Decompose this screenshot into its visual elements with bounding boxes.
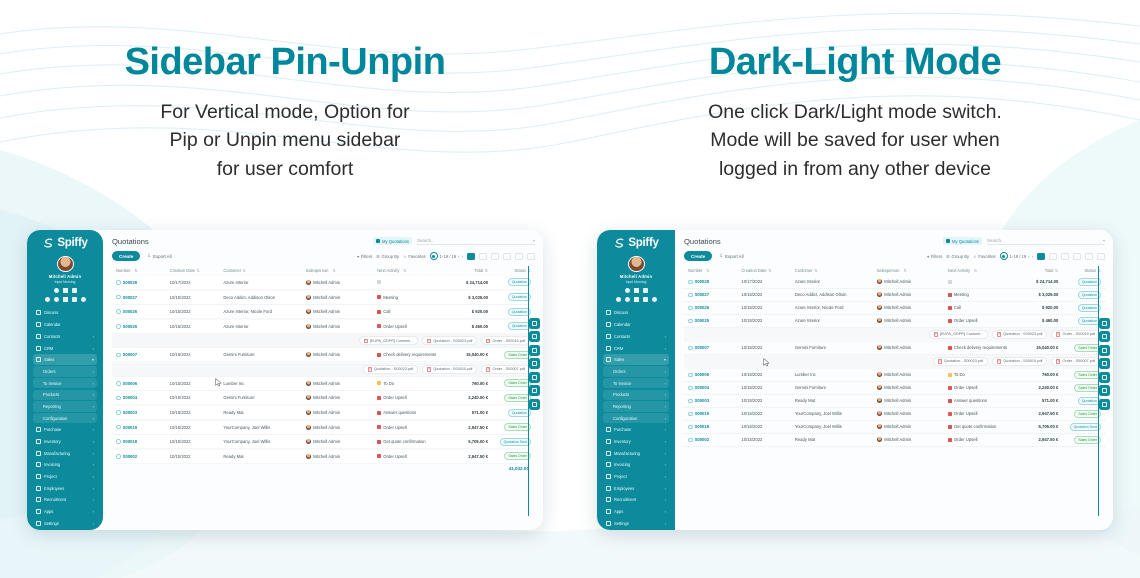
actionbar[interactable]: Create ⇩ Export All ▾ Filters — [684, 251, 1105, 262]
activity-icon — [377, 324, 381, 328]
cell-next-activity: Order Upsell — [377, 454, 438, 459]
filters-button[interactable]: ▾ Filters — [927, 254, 942, 259]
sidebar-item-apps[interactable]: Apps› — [603, 506, 669, 517]
sidebar-item-crm[interactable]: CRM› — [33, 343, 97, 354]
chevron-right-icon[interactable]: › — [665, 451, 666, 456]
chevron-right-icon[interactable]: › — [93, 334, 94, 339]
print-icon[interactable] — [529, 358, 540, 369]
bulb-icon[interactable] — [652, 297, 657, 302]
cell-customer: Azure Interior — [795, 318, 877, 323]
cell-next-activity: Answer questions — [377, 410, 438, 415]
cell-customer: YourCompany, Joel Willis — [795, 424, 877, 429]
chevron-right-icon[interactable]: › — [665, 404, 666, 409]
cell-total-text: 15,040.00 € — [466, 352, 488, 357]
status-ring-icon[interactable] — [688, 293, 693, 298]
attachment-chip[interactable]: POrder - S00015.pdf — [481, 336, 530, 345]
sidebar-item-recruitment[interactable]: Recruitment› — [603, 495, 669, 506]
sidebar-item-products[interactable]: Products› — [603, 390, 669, 401]
kanban-view-button[interactable] — [479, 253, 487, 260]
sidebar-item-discuss[interactable]: Discuss — [33, 308, 97, 319]
brand-logo[interactable]: Spiffy — [613, 237, 658, 250]
chevron-right-icon[interactable]: › — [665, 369, 666, 374]
topbar: Quotations My Quotations Search... ▾ — [112, 237, 535, 246]
sidebar-item-project[interactable]: Project› — [33, 471, 97, 482]
attachment-chip[interactable]: PQuotation - S00023.pdf — [422, 336, 477, 345]
chevron-right-icon[interactable]: › — [93, 416, 94, 421]
print-icon-glyph — [1102, 361, 1107, 366]
sidebar-item-sales[interactable]: Sales▾ — [33, 354, 97, 365]
archive-icon[interactable] — [529, 385, 540, 396]
sidebar-item-orders[interactable]: Orders› — [33, 366, 97, 377]
column-header-customer[interactable]: Customer⇅ — [223, 268, 305, 273]
chevron-right-icon[interactable]: › — [93, 439, 94, 444]
status-ring-icon[interactable] — [688, 412, 693, 417]
link-alt-icon[interactable] — [625, 297, 630, 302]
chevron-right-icon[interactable]: › — [93, 509, 94, 514]
bulb-icon[interactable] — [81, 297, 86, 302]
pin-icon[interactable] — [63, 297, 68, 302]
cell-status: Quotation — [1058, 397, 1101, 405]
layout-icon[interactable] — [1099, 372, 1110, 383]
sidebar-item-purchase[interactable]: Purchase› — [33, 425, 97, 436]
search-input[interactable]: Search... ▾ — [417, 238, 535, 245]
chevron-right-icon[interactable]: › — [665, 439, 666, 444]
link-icon[interactable] — [45, 297, 50, 302]
sidebar-item-to-invoice[interactable]: To Invoice› — [33, 378, 97, 389]
table-row[interactable]: S0000710/15/2022Gemini FurnitureMitchell… — [684, 342, 1105, 355]
search-area[interactable]: My Quotations Search... ▾ — [943, 237, 1105, 245]
column-header-label: Salesperson — [306, 268, 329, 273]
table-row[interactable]: S0000310/15/2022Ready MatMitchell AdminA… — [684, 395, 1105, 408]
chevron-right-icon[interactable]: › — [665, 486, 666, 491]
lock-icon[interactable] — [643, 297, 648, 302]
chevron-right-icon[interactable]: › — [93, 486, 94, 491]
sidebar-item-manufacturing[interactable]: Manufacturing› — [33, 448, 97, 459]
sidebar-item-apps[interactable]: Apps› — [33, 506, 97, 517]
cell-number-text: S00003 — [123, 410, 137, 415]
cell-salesperson-text: Mitchell Admin — [313, 352, 340, 357]
chevron-down-icon[interactable]: ▾ — [533, 238, 535, 243]
settings-gear-icon[interactable] — [1099, 318, 1110, 329]
table-row[interactable]: S0002510/15/2022Azure InteriorMitchell A… — [684, 315, 1105, 328]
status-ring-icon[interactable] — [116, 295, 121, 300]
pager[interactable]: 1-19 / 19 ‹ › — [1000, 252, 1033, 260]
home-icon[interactable] — [63, 288, 68, 293]
cell-number: S00002 — [116, 454, 170, 459]
cell-creation-date-text: 10/15/2022 — [741, 372, 762, 377]
list-view-button[interactable] — [467, 253, 475, 260]
attachment-chip[interactable]: PQuotation - S00023.pdf — [933, 357, 988, 366]
chevron-right-icon[interactable]: › — [93, 451, 94, 456]
chevron-right-icon[interactable]: › — [93, 521, 94, 526]
sidebar-item-recruitment[interactable]: Recruitment› — [33, 495, 97, 506]
status-ring-icon[interactable] — [116, 324, 121, 329]
column-header-total[interactable]: Total⇅ — [1008, 268, 1058, 273]
contacts-icon — [606, 334, 611, 339]
cell-status: Sales Order — [1058, 436, 1101, 444]
home-icon[interactable] — [634, 288, 639, 293]
cell-salesperson-text: Mitchell Admin — [884, 398, 911, 403]
prev-page-icon[interactable]: ‹ — [1028, 254, 1029, 259]
sidebar-item-invoicing[interactable]: Invoicing› — [33, 460, 97, 471]
graph-view-button[interactable] — [1085, 253, 1093, 260]
cell-salesperson-text: Mitchell Admin — [313, 425, 340, 430]
sort-icon[interactable]: ⇅ — [332, 268, 335, 273]
sidebar-item-inventory[interactable]: Inventory› — [33, 436, 97, 447]
attachment-chip[interactable]: PQuotation - S00023.pdf — [992, 330, 1047, 339]
sidebar-item-employees[interactable]: Employees› — [33, 483, 97, 494]
chevron-down-icon[interactable]: ▾ — [92, 357, 94, 362]
attachment-row: PQuotation - S00023.pdfPQuotation - S000… — [112, 363, 535, 377]
archive-icon-glyph — [1102, 388, 1107, 393]
status-ring-icon[interactable] — [116, 381, 121, 386]
create-button[interactable]: Create — [684, 251, 712, 261]
sidebar-item-purchase[interactable]: Purchase› — [603, 425, 669, 436]
column-header-creation-date[interactable]: Creation Date⇅ — [170, 268, 224, 273]
layout-icon[interactable] — [529, 372, 540, 383]
sidebar-item-products[interactable]: Products› — [33, 390, 97, 401]
pin-icon[interactable] — [634, 297, 639, 302]
app-window-left[interactable]: Spiffy Mitchell Admin Input Morning — [27, 230, 543, 530]
column-header-customer[interactable]: Customer⇅ — [795, 268, 877, 273]
quick-icons-row-1[interactable] — [625, 288, 648, 293]
cell-salesperson: Mitchell Admin — [877, 305, 948, 310]
chevron-right-icon[interactable]: › — [93, 427, 94, 432]
calendar-view-button[interactable] — [491, 253, 499, 260]
sidebar-item-contacts[interactable]: Contacts› — [603, 331, 669, 342]
table-row[interactable]: S0002810/17/2022Azure InteriorMitchell A… — [112, 276, 535, 289]
cell-next-activity-text: Call — [954, 305, 961, 310]
status-ring-icon[interactable] — [688, 438, 693, 443]
table-row[interactable]: S0002810/17/2022Azure InteriorMitchell A… — [684, 276, 1105, 289]
table-row[interactable]: S0001910/15/2022YourCompany, Joel Willis… — [112, 421, 535, 434]
avatar — [306, 381, 311, 386]
cell-salesperson: Mitchell Admin — [877, 385, 948, 390]
cell-salesperson-text: Mitchell Admin — [884, 411, 911, 416]
sort-icon[interactable]: ⇅ — [196, 268, 199, 273]
table-row[interactable]: S0000710/15/2022Gemini FurnitureMitchell… — [112, 348, 535, 361]
archive-icon[interactable] — [1099, 385, 1110, 396]
status-ring-icon[interactable] — [688, 280, 693, 285]
export-icon[interactable] — [1099, 399, 1110, 410]
sort-icon[interactable]: ⇅ — [706, 268, 709, 273]
chevron-right-icon[interactable]: › — [93, 474, 94, 479]
sidebar-item-inventory[interactable]: Inventory› — [603, 436, 669, 447]
clock-icon[interactable] — [1099, 331, 1110, 342]
kanban-view-button[interactable] — [1049, 253, 1057, 260]
chevron-right-icon[interactable]: › — [665, 381, 666, 386]
export-icon[interactable] — [529, 399, 540, 410]
actionbar[interactable]: Create ⇩ Export All ▾ Filters — [112, 251, 535, 262]
status-ring-icon[interactable] — [116, 309, 121, 314]
cell-customer-text: YourCompany, Joel Willis — [223, 439, 270, 444]
column-header-status[interactable]: Status⇅ — [488, 268, 531, 273]
activity-view-button[interactable] — [1097, 253, 1105, 260]
pivot-view-button[interactable] — [1073, 253, 1081, 260]
status-ring-icon[interactable] — [688, 386, 693, 391]
settings-icon — [606, 521, 611, 526]
prev-page-icon[interactable]: ‹ — [458, 254, 459, 259]
export-all-button[interactable]: ⇩ Export All — [143, 251, 175, 262]
chevron-right-icon[interactable]: › — [665, 427, 666, 432]
chevron-right-icon[interactable]: › — [93, 369, 94, 374]
clock-icon-glyph — [1102, 334, 1107, 339]
sort-icon[interactable]: ⇅ — [134, 268, 137, 273]
avatar — [306, 295, 311, 300]
chevron-right-icon[interactable]: › — [93, 392, 94, 397]
attachment-chip[interactable]: POrder - S00015.pdf — [1051, 330, 1100, 339]
link-alt-icon[interactable] — [54, 297, 59, 302]
column-header-next-activity[interactable]: Next Activity⇅ — [377, 268, 438, 273]
chevron-right-icon[interactable]: › — [665, 416, 666, 421]
chevron-right-icon[interactable]: › — [665, 509, 666, 514]
sidebar-item-label: Configuration — [613, 416, 662, 421]
quick-icons-row-1[interactable] — [54, 288, 77, 293]
sort-icon[interactable]: ⇅ — [814, 268, 817, 273]
column-header-total[interactable]: Total⇅ — [438, 268, 488, 273]
attachment-chip[interactable]: PQuotation - S00010.pdf — [422, 365, 477, 374]
clock-icon[interactable] — [529, 331, 540, 342]
sidebar-item-to-invoice[interactable]: To Invoice› — [603, 378, 669, 389]
cell-number-text: S00002 — [123, 454, 137, 459]
pager[interactable]: 1-19 / 19 ‹ › — [430, 252, 463, 260]
favorites-button[interactable]: ☆ Favorites — [973, 254, 996, 259]
chevron-down-icon[interactable]: ▾ — [664, 357, 666, 362]
sort-icon[interactable]: ⇅ — [243, 268, 246, 273]
sidebar-item-configuration[interactable]: Configuration› — [603, 413, 669, 424]
calendar-icon[interactable] — [643, 288, 648, 293]
link-icon[interactable] — [616, 297, 621, 302]
status-ring-icon[interactable] — [116, 454, 121, 459]
sidebar-menu[interactable]: DiscussCalendarContacts›CRM›Sales▾Orders… — [597, 302, 675, 530]
export-icon-glyph — [532, 402, 537, 407]
chevron-right-icon[interactable]: › — [665, 521, 666, 526]
attachment-chip[interactable]: POrder - S00007.pdf — [481, 365, 530, 374]
sort-icon[interactable]: ⇅ — [485, 268, 488, 273]
filters-button[interactable]: ▾ Filters — [357, 254, 372, 259]
table-row[interactable]: S0002610/15/2022Azure Interior, Nicole F… — [684, 302, 1105, 315]
wrench-icon[interactable] — [625, 288, 630, 293]
print-icon[interactable] — [1099, 358, 1110, 369]
cell-number: S00025 — [688, 318, 741, 323]
table-row[interactable]: S0002710/15/2022Deco Addict, Addison Ols… — [112, 291, 535, 304]
cell-total-text: $ 3,025.00 — [1039, 292, 1059, 297]
sidebar-item-crm[interactable]: CRM› — [603, 343, 669, 354]
sidebar-menu[interactable]: DiscussCalendarContacts›CRM›Sales▾Orders… — [27, 302, 103, 530]
table-row[interactable]: S0000210/15/2022Ready MatMitchell AdminO… — [684, 434, 1105, 447]
search-area[interactable]: My Quotations Search... ▾ — [373, 237, 535, 245]
cell-salesperson-text: Mitchell Admin — [313, 381, 340, 386]
table-row[interactable]: S0002710/15/2022Deco Addict, Addison Ols… — [684, 289, 1105, 302]
column-header-next-activity[interactable]: Next Activity⇅ — [948, 268, 1009, 273]
avatar — [877, 292, 882, 297]
tool-rail-right[interactable] — [1099, 318, 1111, 410]
chevron-right-icon[interactable]: › — [93, 497, 94, 502]
attachment-chip[interactable]: PQuotation - S00010.pdf — [992, 357, 1047, 366]
view-tools[interactable]: ▾ Filters ☰ Group By ☆ Favorites — [927, 252, 1105, 260]
wrench-icon[interactable] — [54, 288, 59, 293]
pivot-view-button[interactable] — [503, 253, 511, 260]
apps-icon — [36, 509, 41, 514]
table-row[interactable]: S0000410/15/2022Gemini FurnitureMitchell… — [684, 382, 1105, 395]
export-icon: ⇩ — [719, 253, 723, 259]
settings-gear-icon[interactable] — [529, 318, 540, 329]
table-row[interactable]: S0000610/15/2022Lumber IncMitchell Admin… — [112, 377, 535, 390]
table-row[interactable]: S0000310/15/2022Ready MatMitchell AdminA… — [112, 406, 535, 419]
avatar[interactable] — [57, 256, 74, 272]
grid-icon[interactable] — [1099, 345, 1110, 356]
apps-icon — [606, 509, 611, 514]
sidebar-item-label: Reporting — [43, 404, 90, 409]
cell-next-activity: Check delivery requirements — [948, 345, 1009, 350]
cell-next-activity-text: To Do — [383, 381, 394, 386]
attachment-chip[interactable]: POrder - S00007.pdf — [1051, 357, 1100, 366]
cell-salesperson-text: Mitchell Admin — [884, 424, 911, 429]
sidebar[interactable]: Spiffy Mitchell Admin Input Morning — [27, 230, 103, 530]
status-ring-icon[interactable] — [116, 410, 121, 415]
chevron-right-icon[interactable]: › — [665, 334, 666, 339]
chevron-down-icon[interactable]: ▾ — [1103, 238, 1105, 243]
status-ring-icon[interactable] — [688, 425, 693, 430]
sidebar-item-contacts[interactable]: Contacts› — [33, 331, 97, 342]
attachment-chip[interactable]: P[EUPA_GDPR] Customi... — [359, 336, 418, 345]
status-ring-icon[interactable] — [688, 346, 693, 351]
cell-next-activity-text: Answer questions — [954, 398, 987, 403]
chevron-right-icon[interactable]: › — [93, 381, 94, 386]
table-row[interactable]: S0002510/15/2022Azure InteriorMitchell A… — [112, 320, 535, 333]
sidebar-item-calendar[interactable]: Calendar — [603, 319, 669, 330]
cell-total: 571.00 € — [1008, 398, 1058, 403]
app-window-right[interactable]: Spiffy Mitchell Admin Input Morning — [597, 230, 1113, 530]
sidebar-item-settings[interactable]: Settings› — [33, 518, 97, 529]
sidebar-item-sales[interactable]: Sales▾ — [603, 354, 669, 365]
attachment-chip[interactable]: PQuotation - S00023.pdf — [363, 365, 418, 374]
cell-creation-date: 10/15/2022 — [741, 424, 794, 429]
status-ring-icon[interactable] — [116, 396, 121, 401]
sidebar-item-discuss[interactable]: Discuss — [603, 308, 669, 319]
attachment-row: PQuotation - S00023.pdfPQuotation - S000… — [684, 355, 1105, 369]
quotations-table-left[interactable]: Number⇅Creation Date⇅Customer⇅Salesperso… — [112, 266, 535, 530]
sort-icon[interactable]: ⇅ — [974, 268, 977, 273]
cell-next-activity-text: Order Upsell — [383, 454, 407, 459]
favorites-button[interactable]: ☆ Favorites — [403, 254, 426, 259]
cell-salesperson-text: Mitchell Admin — [884, 318, 911, 323]
column-header-number[interactable]: Number⇅ — [116, 268, 170, 273]
chevron-right-icon[interactable]: › — [665, 497, 666, 502]
column-header-salesperson[interactable]: Salesperson⇅ — [306, 268, 378, 273]
sort-icon[interactable]: ⇅ — [768, 268, 771, 273]
cell-number-text: S00007 — [695, 345, 709, 350]
sidebar-item-label: Sales — [614, 357, 661, 362]
sidebar[interactable]: Spiffy Mitchell Admin Input Morning — [597, 230, 675, 530]
cell-status: Quotation — [488, 278, 531, 286]
table-row[interactable]: S0000610/15/2022Lumber IncMitchell Admin… — [684, 369, 1105, 382]
cell-total-text: 571.00 € — [1042, 398, 1058, 403]
cell-total-text: 760.00 € — [1042, 372, 1058, 377]
status-ring-icon[interactable] — [688, 306, 693, 311]
sidebar-item-calendar[interactable]: Calendar — [33, 319, 97, 330]
grid-icon[interactable] — [529, 345, 540, 356]
sidebar-item-orders[interactable]: Orders› — [603, 366, 669, 377]
subtitle-line: For Vertical mode, Option for — [0, 98, 570, 127]
groupby-button[interactable]: ☰ Group By — [376, 254, 399, 259]
status-ring-icon[interactable] — [688, 373, 693, 378]
column-header-salesperson[interactable]: Salesperson⇅ — [877, 268, 948, 273]
status-ring-icon[interactable] — [116, 353, 121, 358]
chevron-right-icon[interactable]: › — [665, 474, 666, 479]
sort-icon[interactable]: ⇅ — [903, 268, 906, 273]
create-button[interactable]: Create — [112, 251, 140, 261]
table-row[interactable]: S0001810/15/2022YourCompany, Joel Willis… — [684, 421, 1105, 434]
calendar-view-button[interactable] — [1061, 253, 1069, 260]
table-row[interactable]: S0000210/15/2022Ready MatMitchell AdminO… — [112, 450, 535, 463]
sort-icon[interactable]: ⇅ — [403, 268, 406, 273]
sidebar-item-manufacturing[interactable]: Manufacturing› — [603, 448, 669, 459]
sidebar-item-reporting[interactable]: Reporting› — [603, 401, 669, 412]
chevron-right-icon[interactable]: › — [665, 346, 666, 351]
sidebar-item-settings[interactable]: Settings› — [603, 518, 669, 529]
chevron-right-icon[interactable]: › — [93, 404, 94, 409]
filter-chip-my-quotations[interactable]: My Quotations — [373, 237, 412, 245]
filter-chip-my-quotations[interactable]: My Quotations — [943, 237, 982, 245]
cell-customer-text: Azure Interior, Nicole Ford — [795, 305, 844, 310]
list-view-button[interactable] — [1037, 253, 1045, 260]
export-all-button[interactable]: ⇩ Export All — [715, 251, 747, 262]
status-ring-icon[interactable] — [116, 439, 121, 444]
sidebar-item-project[interactable]: Project› — [603, 471, 669, 482]
cell-creation-date-text: 10/15/2022 — [170, 324, 191, 329]
groupby-button[interactable]: ☰ Group By — [946, 254, 969, 259]
activity-view-button[interactable] — [527, 253, 535, 260]
sidebar-item-employees[interactable]: Employees› — [603, 483, 669, 494]
chevron-right-icon[interactable]: › — [93, 462, 94, 467]
table-row[interactable]: S0002610/15/2022Azure Interior, Nicole F… — [112, 305, 535, 318]
lock-icon[interactable] — [72, 297, 77, 302]
column-header-number[interactable]: Number⇅ — [688, 268, 741, 273]
next-page-icon[interactable]: › — [462, 254, 463, 259]
sort-icon[interactable]: ⇅ — [1055, 268, 1058, 273]
tool-rail-left[interactable] — [529, 318, 541, 410]
table-row[interactable]: S0000410/15/2022Gemini FurnitureMitchell… — [112, 391, 535, 404]
status-ring-icon[interactable] — [688, 399, 693, 404]
view-tools[interactable]: ▾ Filters ☰ Group By ☆ Favorites — [357, 252, 535, 260]
attachment-chip[interactable]: P[EUPA_GDPR] Customi... — [929, 330, 988, 339]
calendar-icon[interactable] — [72, 288, 77, 293]
chevron-right-icon[interactable]: › — [665, 462, 666, 467]
column-header-status[interactable]: Status⇅ — [1058, 268, 1101, 273]
status-ring-icon[interactable] — [688, 319, 693, 324]
quotations-table-right[interactable]: Number⇅Creation Date⇅Customer⇅Salesperso… — [684, 266, 1105, 530]
table-row[interactable]: S0001810/15/2022YourCompany, Joel Willis… — [112, 435, 535, 448]
pdf-icon: P — [368, 367, 372, 372]
search-input[interactable]: Search... ▾ — [987, 238, 1105, 245]
next-page-icon[interactable]: › — [1032, 254, 1033, 259]
table-row[interactable]: S0001910/15/2022YourCompany, Joel Willis… — [684, 408, 1105, 421]
column-header-creation-date[interactable]: Creation Date⇅ — [741, 268, 794, 273]
cell-creation-date-text: 10/15/2022 — [170, 454, 191, 459]
status-ring-icon[interactable] — [116, 425, 121, 430]
sidebar-item-invoicing[interactable]: Invoicing› — [603, 460, 669, 471]
chevron-right-icon[interactable]: › — [665, 392, 666, 397]
sidebar-item-reporting[interactable]: Reporting› — [33, 401, 97, 412]
cell-creation-date-text: 10/15/2022 — [741, 345, 762, 350]
avatar[interactable] — [628, 256, 645, 272]
brand-logo[interactable]: Spiffy — [42, 237, 87, 250]
graph-view-button[interactable] — [515, 253, 523, 260]
sidebar-item-configuration[interactable]: Configuration› — [33, 413, 97, 424]
chevron-right-icon[interactable]: › — [93, 346, 94, 351]
status-ring-icon[interactable] — [116, 280, 121, 285]
